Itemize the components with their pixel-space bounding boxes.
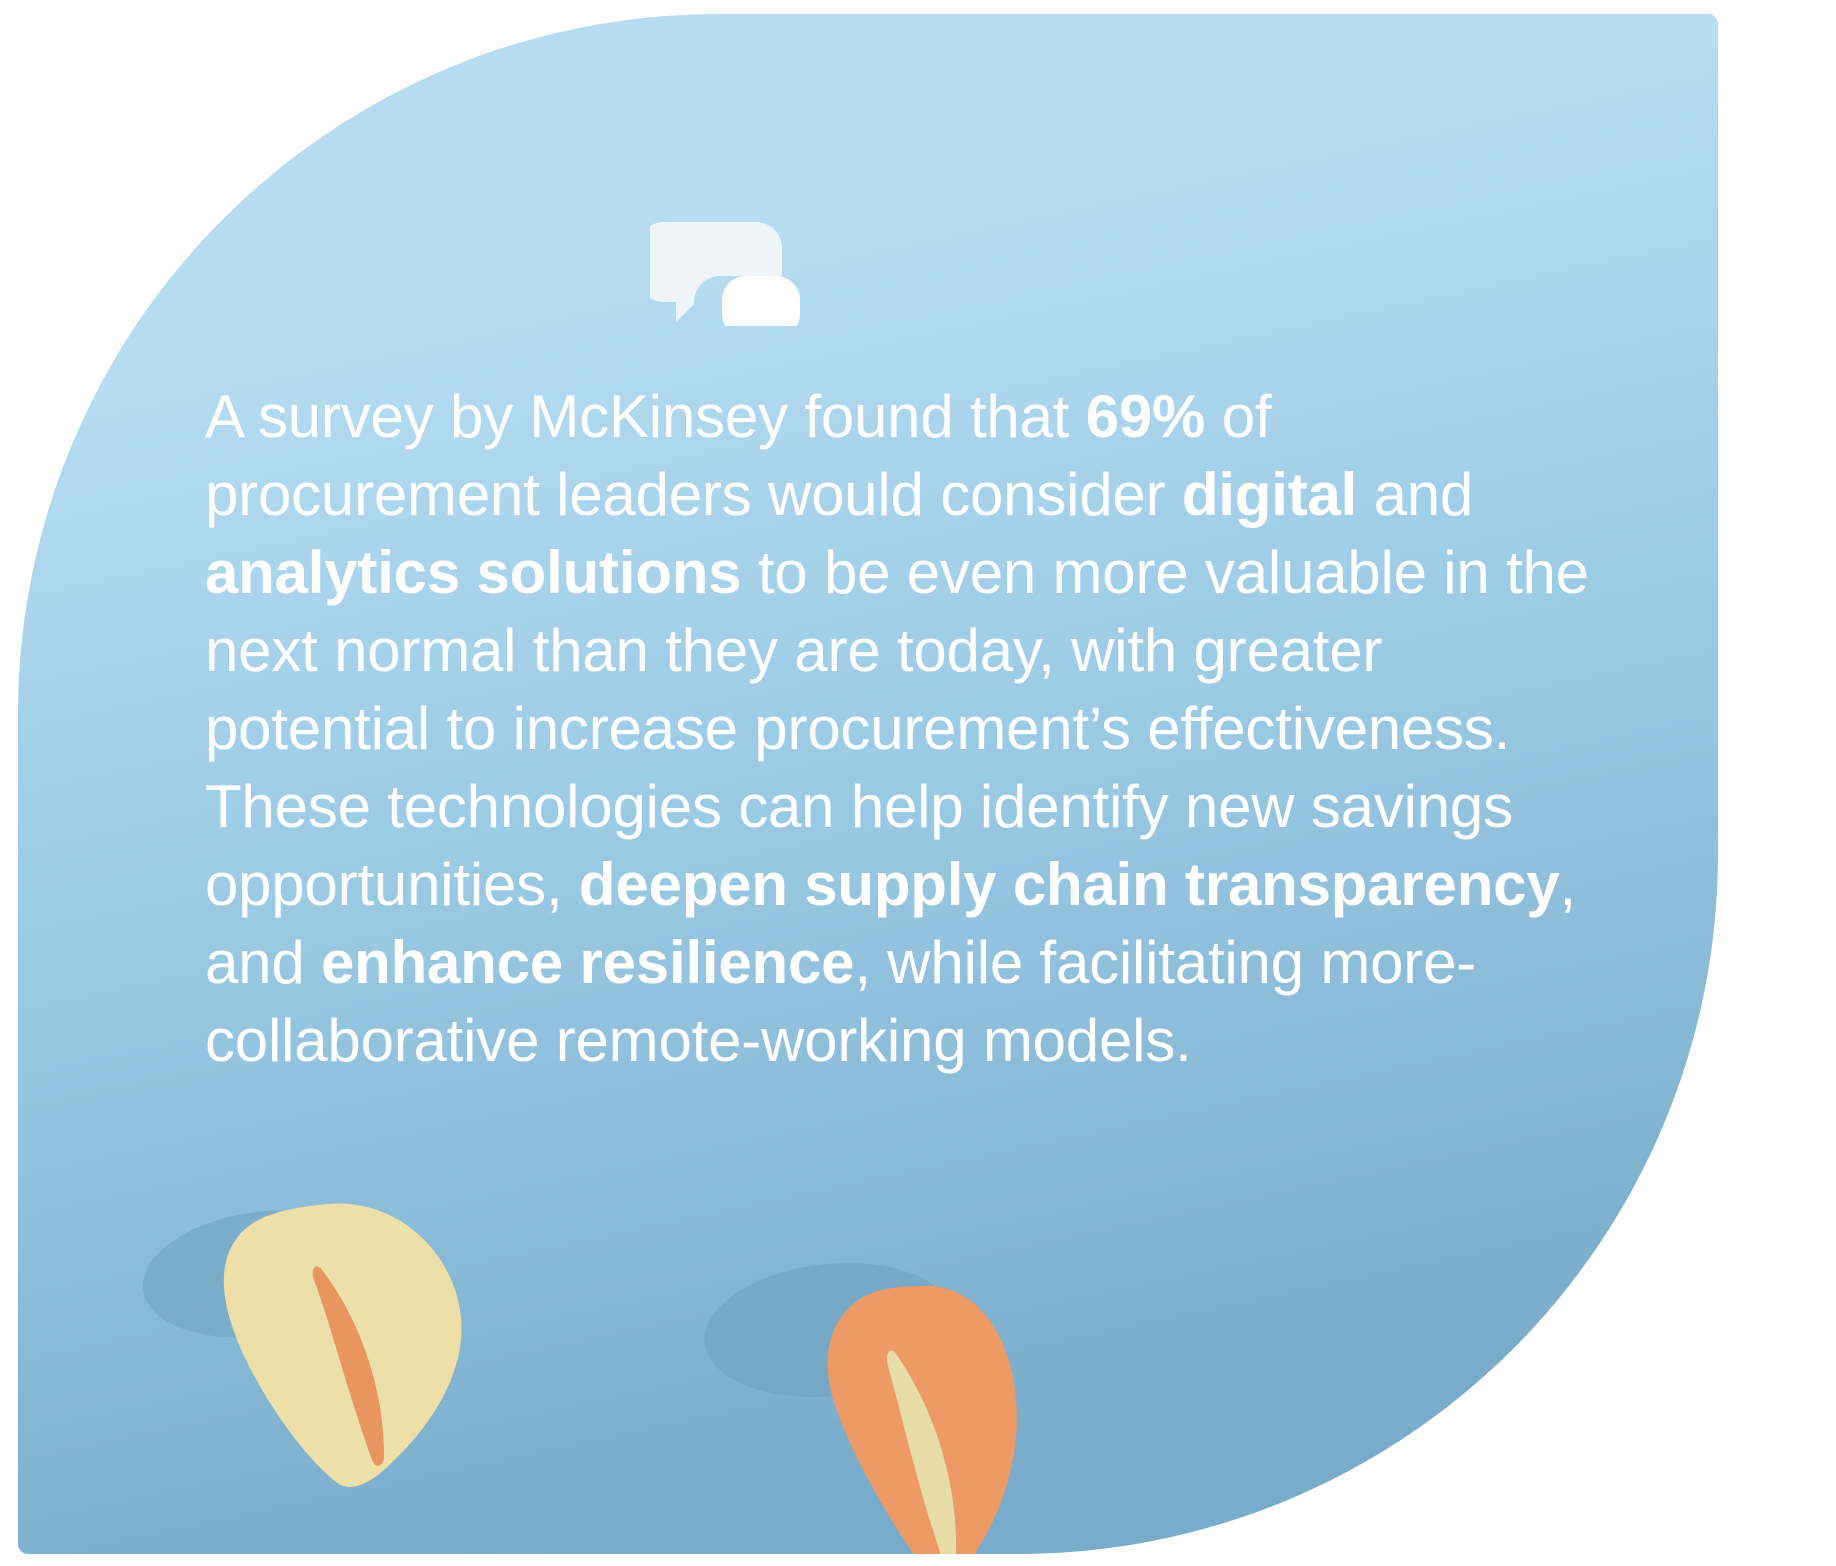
quote-emphasis: 69%	[1086, 383, 1206, 450]
cream-leaf	[188, 1194, 508, 1504]
callout-card-canvas: A survey by McKinsey found that 69% of p…	[0, 0, 1836, 1566]
quote-emphasis: analytics solutions	[205, 539, 741, 606]
quote-emphasis: digital	[1182, 461, 1357, 528]
quote-text: A survey by McKinsey found that 69% of p…	[205, 378, 1605, 1080]
quote-run: A survey by McKinsey found that	[205, 383, 1086, 450]
orange-leaf	[778, 1274, 1098, 1554]
quote-body: A survey by McKinsey found that 69% of p…	[205, 383, 1589, 1074]
quote-emphasis: enhance resilience	[321, 929, 854, 996]
front-bubble	[722, 276, 800, 326]
quote-emphasis: deepen supply chain transparency	[579, 851, 1560, 918]
chat-bubbles-icon	[650, 214, 800, 324]
quote-run: and	[1357, 461, 1473, 528]
